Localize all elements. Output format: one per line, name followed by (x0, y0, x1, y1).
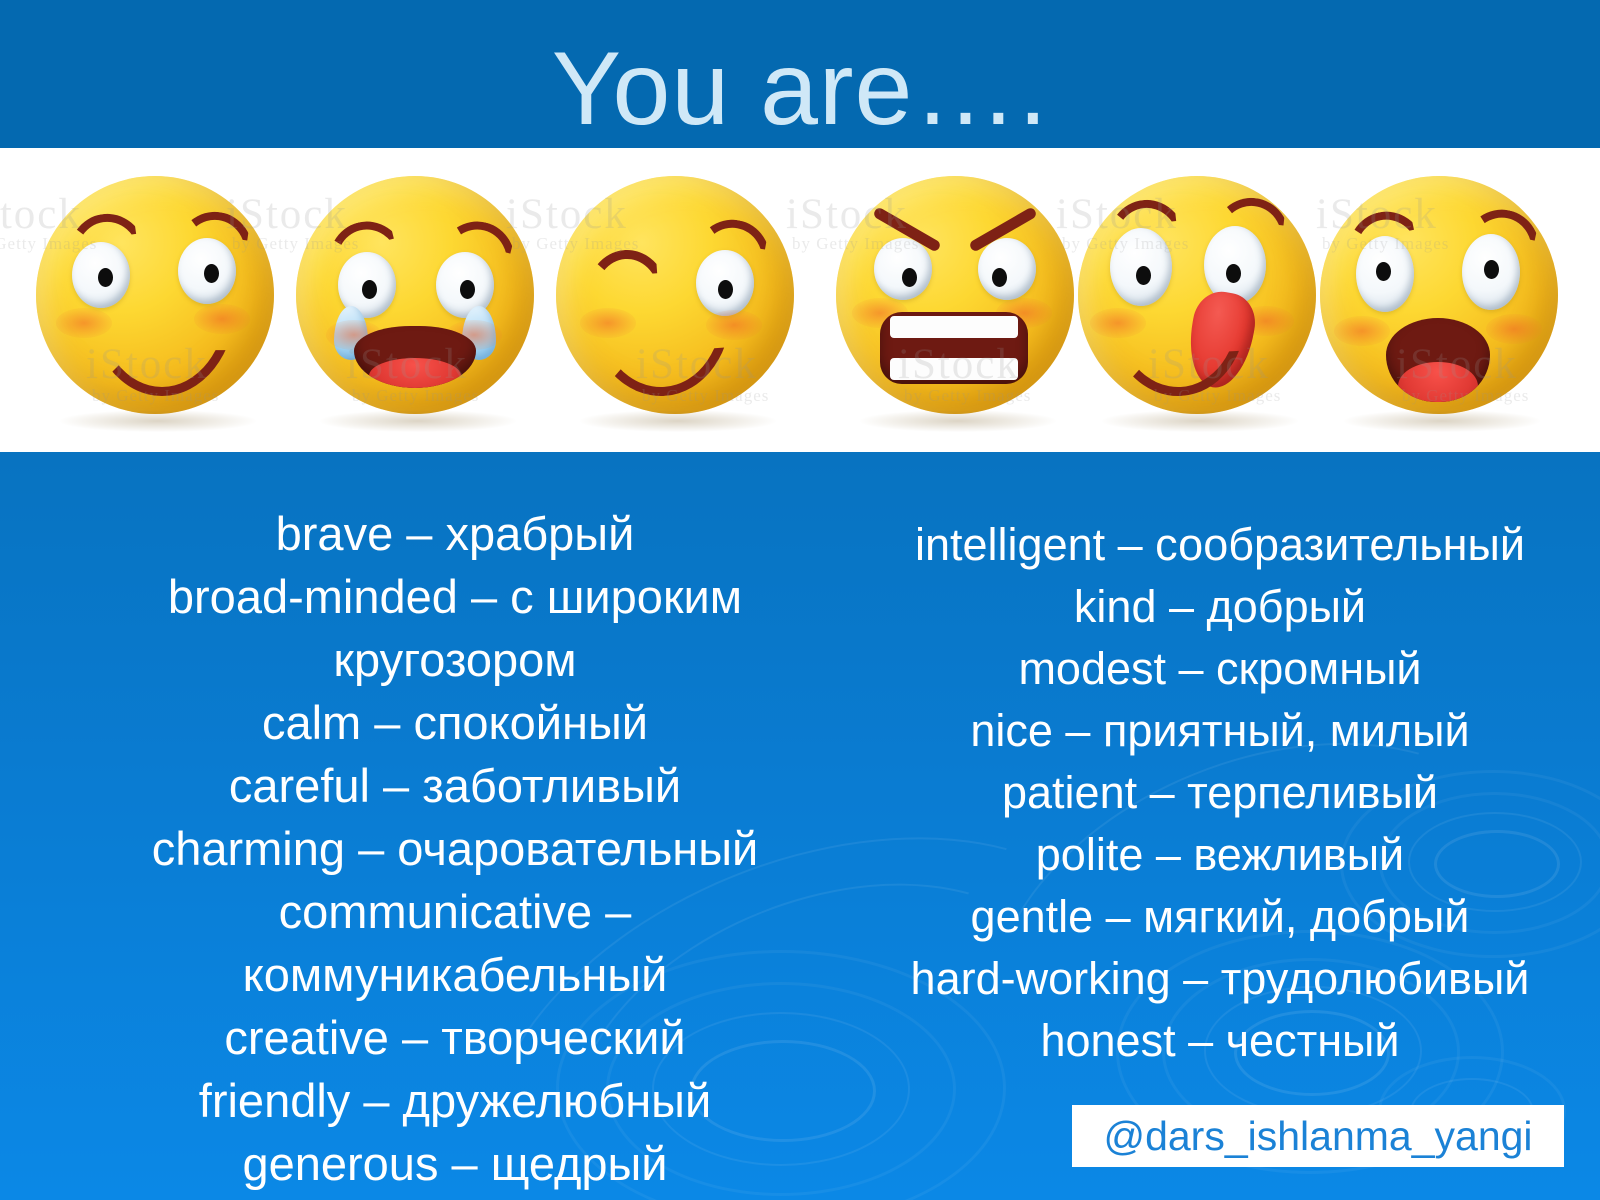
teeth-upper-icon (890, 316, 1017, 338)
pupil-icon (460, 280, 475, 299)
emoji-tongue-out-face (1078, 176, 1330, 428)
face-shadow (60, 410, 256, 432)
vocabulary-item: careful – заботливый (60, 754, 850, 817)
vocabulary-item: hard-working – трудолюбивый (840, 948, 1600, 1010)
vocabulary-item: broad-minded – с широким кругозором (60, 565, 850, 691)
emoji-smiling-face (36, 176, 288, 428)
pupil-icon (1226, 264, 1241, 283)
emoji-crying-face (296, 176, 548, 428)
vocabulary-left-column: brave – храбрый broad-minded – с широким… (60, 502, 850, 1195)
mouth-open-sad-icon (354, 326, 476, 388)
vocabulary-item: friendly – дружелюбный (60, 1069, 850, 1132)
cheek-blush-right (1486, 314, 1542, 344)
vocabulary-item: patient – терпеливый (840, 762, 1600, 824)
vocabulary-item: intelligent – сообразительный (840, 514, 1600, 576)
emoji-winking-face (556, 176, 808, 428)
slide-root: You are…. (0, 0, 1600, 1200)
channel-handle-text: @dars_ishlanma_yangi (1103, 1113, 1532, 1159)
emoji-shocked-face (1320, 176, 1572, 428)
eye-right-icon (1462, 234, 1520, 310)
teeth-lower-icon (890, 358, 1017, 380)
vocabulary-item: honest – честный (840, 1010, 1600, 1072)
pupil-icon (1376, 262, 1391, 281)
vocabulary-item: modest – скромный (840, 638, 1600, 700)
face-shadow (580, 410, 776, 432)
pupil-icon (992, 268, 1007, 287)
eye-left-icon (1110, 228, 1172, 306)
eye-right-icon (978, 238, 1036, 300)
mouth-gritted-teeth-icon (880, 312, 1028, 384)
pupil-icon (1484, 260, 1499, 279)
tongue-icon (1398, 362, 1477, 402)
eye-right-icon (178, 238, 236, 304)
emoji-image-strip: iStock by Getty Images iStock by Getty I… (0, 148, 1600, 452)
pupil-icon (1136, 266, 1151, 285)
vocabulary-item: calm – спокойный (60, 691, 850, 754)
vocabulary-item: creative – творческий (60, 1006, 850, 1069)
face-shadow (1102, 410, 1298, 432)
pupil-icon (362, 280, 377, 299)
tongue-icon (369, 358, 462, 388)
slide-header: You are…. (0, 0, 1600, 148)
pupil-icon (98, 268, 113, 287)
eye-left-icon (874, 238, 932, 300)
face-shadow (1344, 410, 1540, 432)
vocabulary-item: polite – вежливый (840, 824, 1600, 886)
eye-left-icon (72, 242, 130, 308)
pupil-icon (718, 280, 733, 299)
face-shadow (320, 410, 516, 432)
vocabulary-item: kind – добрый (840, 576, 1600, 638)
eye-left-icon (1356, 236, 1414, 312)
vocabulary-item: communicative – коммуникабельный (60, 880, 850, 1006)
vocabulary-item: nice – приятный, милый (840, 700, 1600, 762)
mouth-open-shocked-icon (1386, 318, 1490, 402)
vocabulary-content: brave – храбрый broad-minded – с широким… (0, 452, 1600, 1200)
page-title: You are…. (0, 30, 1600, 148)
pupil-icon (902, 268, 917, 287)
pupil-icon (204, 264, 219, 283)
vocabulary-item: generous – щедрый (60, 1132, 850, 1195)
cheek-blush-left (1334, 316, 1390, 346)
channel-handle-badge: @dars_ishlanma_yangi (1072, 1105, 1564, 1167)
face-shadow (860, 410, 1056, 432)
vocabulary-item: gentle – мягкий, добрый (840, 886, 1600, 948)
vocabulary-item: charming – очаровательный (60, 817, 850, 880)
emoji-angry-face (836, 176, 1088, 428)
vocabulary-item: brave – храбрый (60, 502, 850, 565)
vocabulary-right-column: intelligent – сообразительный kind – доб… (840, 514, 1600, 1072)
